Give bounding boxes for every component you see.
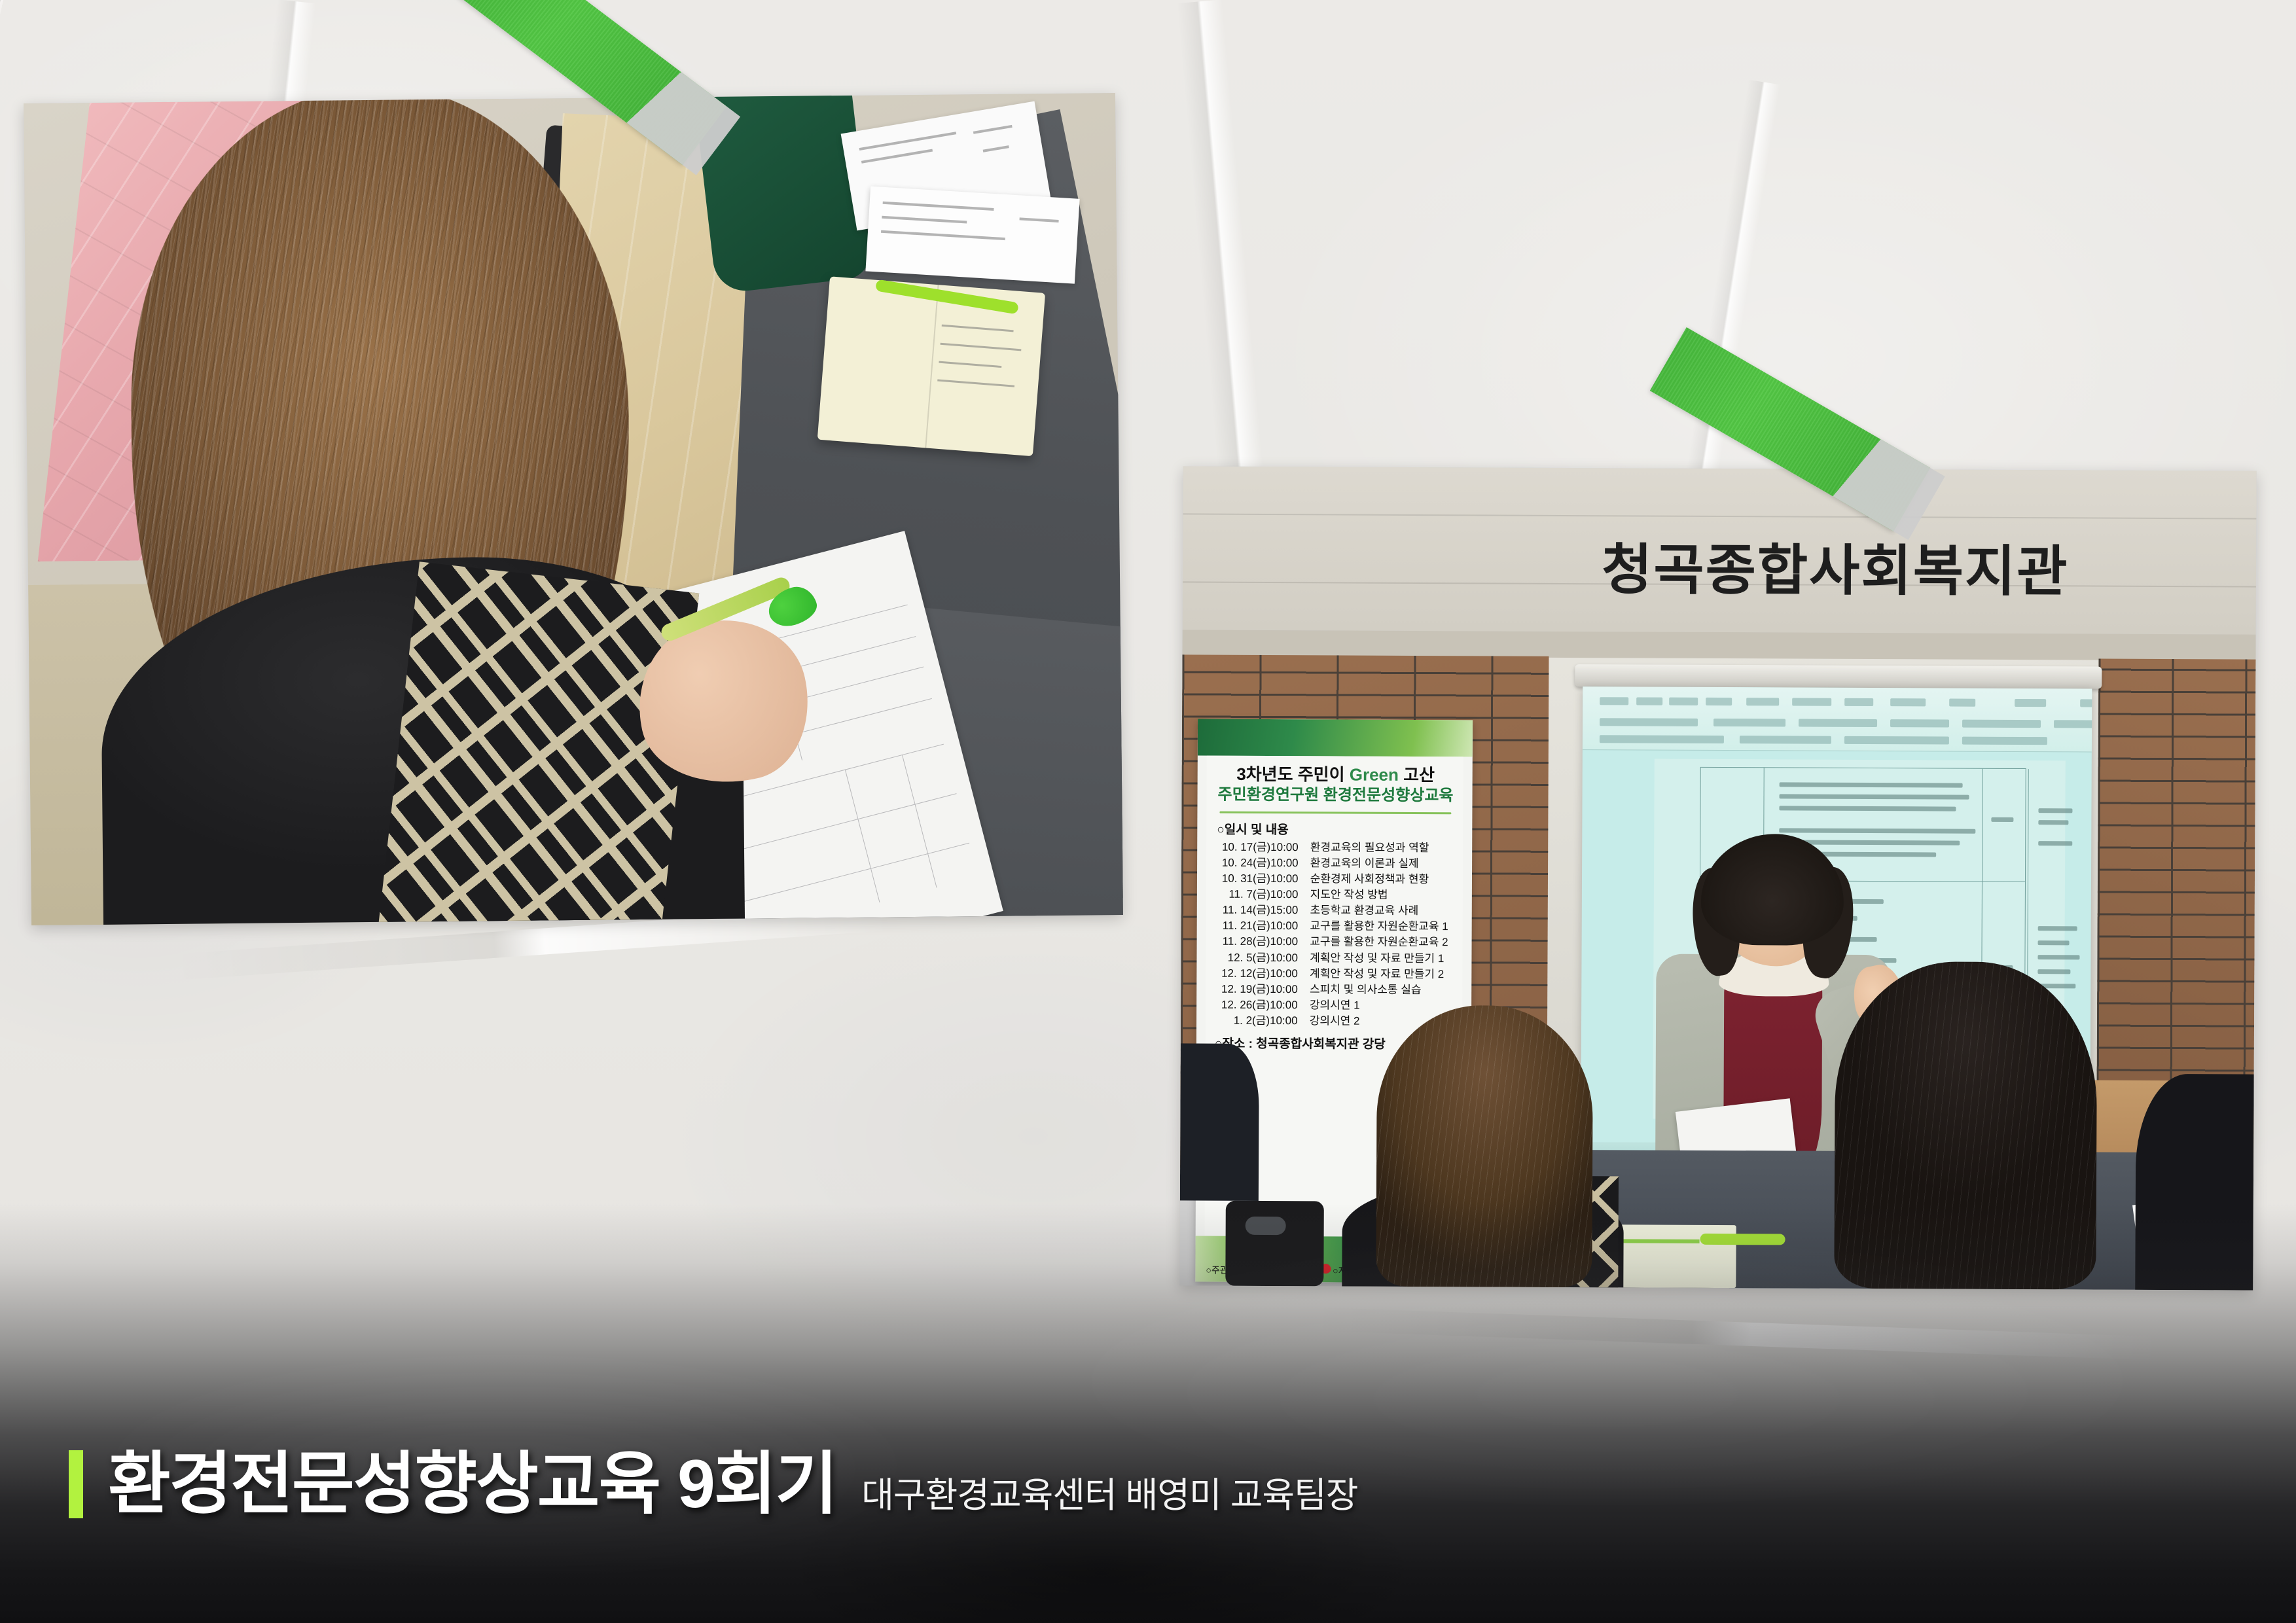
- caption-title: 환경전문성향상교육 9회기: [108, 1450, 836, 1518]
- slide-canvas: 수업계획서: [0, 0, 2296, 1623]
- poster-schedule-list: 10. 17(금) 10:00 환경교육의 필요성과 역할10. 24(금) 1…: [1215, 839, 1455, 1029]
- poster-schedule-item: 12. 12(금) 10:00 계획안 작성 및 자료 만들기 2: [1215, 965, 1454, 982]
- poster-schedule-item: 11. 21(금) 10:00 교구를 활용한 자원순환교육 1: [1215, 918, 1455, 935]
- projector-screen-roller: [1575, 664, 2102, 689]
- poster-schedule-item: 10. 31(금) 10:00 순환경제 사회정책과 현황: [1215, 871, 1455, 888]
- poster-schedule-item: 12. 26(금) 10:00 강의시연 1: [1215, 997, 1454, 1014]
- poster-schedule-item: 10. 17(금) 10:00 환경교육의 필요성과 역할: [1215, 839, 1455, 856]
- caption-block: 환경전문성향상교육 9회기 대구환경교육센터 배영미 교육팀장: [69, 1444, 1357, 1518]
- poster-divider: [1219, 811, 1451, 814]
- poster-schedule-item: 11. 7(금) 10:00 지도안 작성 방법: [1215, 887, 1455, 904]
- poster-schedule-item: 12. 5(금) 10:00 계획안 작성 및 자료 만들기 1: [1215, 950, 1454, 967]
- projected-app-ribbon: [1583, 687, 2092, 752]
- photo-left-document-b: [865, 187, 1079, 284]
- caption-subtitle: 대구환경교육센터 배영미 교육팀장: [861, 1478, 1357, 1518]
- photo-right-brick-wall-right: [2097, 659, 2256, 1094]
- poster-top-banner: [1198, 719, 1473, 757]
- photo-right-lecture[interactable]: 청곡종합사회복지관: [1179, 466, 2256, 1290]
- instructor-hair-top: [1701, 834, 1844, 946]
- wall-sign-text: 청곡종합사회복지관: [1602, 526, 2069, 607]
- poster-schedule-item: 11. 28(금) 10:00 교구를 활용한 자원순환교육 2: [1215, 934, 1455, 951]
- photo-right-audience-far-left: [1180, 1043, 1259, 1201]
- photo-left-participant[interactable]: 수업계획서: [24, 93, 1123, 925]
- caption-accent-bar: [69, 1450, 83, 1518]
- poster-schedule-item: 11. 14(금) 15:00 초등학교 환경교육 사례: [1215, 902, 1455, 919]
- poster-title-line1: 3차년도 주민이 Green 고산: [1216, 765, 1456, 785]
- poster-schedule-item: 10. 24(금) 10:00 환경교육의 이론과 실제: [1215, 855, 1455, 872]
- poster-schedule-item: 12. 19(금) 10:00 스피치 및 의사소통 실습: [1215, 981, 1454, 998]
- poster-title-line2: 주민환경연구원 환경전문성향상교육: [1215, 786, 1455, 806]
- poster-schedule-heading: ○일시 및 내용: [1217, 819, 1455, 838]
- bottom-gradient-band: [0, 1204, 2296, 1623]
